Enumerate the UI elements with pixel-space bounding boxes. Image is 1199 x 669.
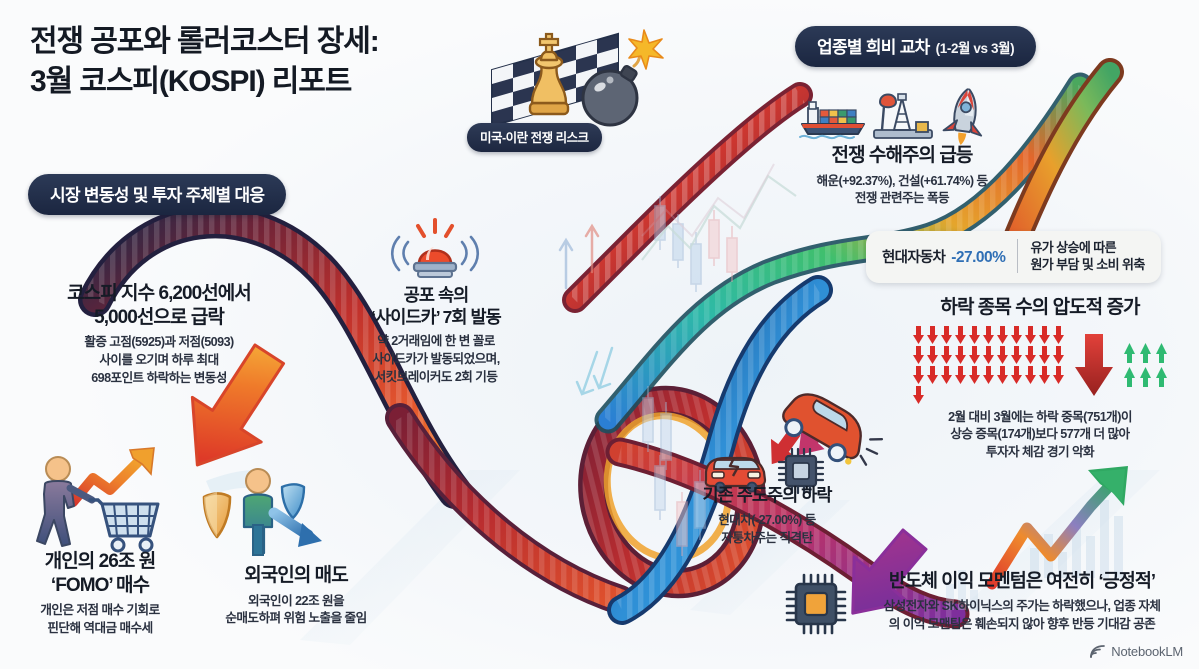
foreigner-body-2: 순매도하펴 위험 노출을 줄임 <box>186 610 406 628</box>
down-arrow-icon <box>912 326 925 344</box>
up-arrow-icon <box>1139 367 1152 387</box>
block-individual-investor: 개인의 26조 원 ‘FOMO’ 매수 개인은 저점 매수 기회로 핀단해 역대… <box>0 550 200 638</box>
up-arrow-icon <box>1155 367 1168 387</box>
down-arrow-icon <box>996 366 1009 384</box>
sidecar-heading-1: 공포 속의 <box>341 285 531 307</box>
person-selling-illustration <box>196 455 346 560</box>
shield-icon <box>204 492 230 537</box>
hyundai-name: 현대자동차 <box>882 250 945 266</box>
war-winners-body-2: 전쟁 관련주는 폭등 <box>762 190 1042 208</box>
breadth-heading-1: 하락 종목 수의 압도적 증가 <box>885 296 1195 320</box>
block-semiconductors: 반도체 이익 모멘텀은 여전히 ‘긍정적’ 삼성전자와 SK하이닉스의 주가는 … <box>846 570 1198 634</box>
infographic-canvas: 전쟁 공포와 롤러코스터 장세: 3월 코스피(KOSPI) 리포트 <box>0 0 1199 669</box>
breadth-arrow-visual <box>885 326 1195 404</box>
kospi-plunge-heading-2: 5,000선으로 급락 <box>14 306 304 330</box>
down-arrow-icon <box>926 346 939 364</box>
badge-left-label: 시장 변동성 및 투자 주체별 대응 <box>50 181 264 206</box>
war-winners-body-1: 해운(+92.37%), 건설(+61.74%) 등 <box>762 173 1042 191</box>
tag-war-risk: 미국-이란 전쟁 리스크 <box>467 123 602 152</box>
sidecar-body-2: 사이드카가 발동되었으며, <box>341 351 531 369</box>
down-arrow-grid <box>912 326 1065 404</box>
down-arrow-icon <box>912 346 925 364</box>
down-arrow-icon <box>968 366 981 384</box>
kospi-plunge-heading-1: 코스피 지수 6,200선에서 <box>14 282 304 306</box>
notebooklm-logo-icon <box>1089 644 1106 659</box>
leaders-fall-body-2: 자퉁차주는 직격탄 <box>672 530 862 548</box>
individual-body-2: 핀단해 역대금 매수세 <box>0 620 200 638</box>
badge-sector-divergence: 업종별 희비 교차 (1-2월 vs 3월) <box>795 26 1036 67</box>
badge-market-volatility: 시장 변동성 및 투자 주체별 대응 <box>28 174 286 215</box>
block-kospi-plunge: 코스피 지수 6,200선에서 5,000선으로 급락 활증 고점(5925)과… <box>14 282 304 388</box>
watermark-label: NotebookLM <box>1111 644 1183 659</box>
down-arrow-icon <box>940 366 953 384</box>
tag-war-risk-label: 미국-이란 전쟁 리스크 <box>480 131 589 145</box>
badge-right-label: 업종별 희비 교차 <box>817 33 930 58</box>
page-title: 전쟁 공포와 롤러코스터 장세: 3월 코스피(KOSPI) 리포트 <box>30 22 500 102</box>
person-buying-icon <box>37 457 92 546</box>
down-arrow-icon <box>1038 366 1051 384</box>
down-arrow-icon <box>968 346 981 364</box>
individual-heading-1: 개인의 26조 원 <box>0 550 200 574</box>
microchip-icon-large <box>784 572 848 638</box>
down-arrow-icon <box>1024 326 1037 344</box>
title-line-1: 전쟁 공포와 롤러코스터 장세: <box>30 22 500 62</box>
down-arrow-icon <box>1024 346 1037 364</box>
cargo-ship-icon <box>800 102 864 138</box>
down-arrow-icon <box>1010 366 1023 384</box>
oil-pump-icon <box>874 94 932 138</box>
foreigner-heading-1: 외국인의 매도 <box>186 564 406 588</box>
shopping-cart-icon <box>90 500 158 551</box>
up-arrow-icon <box>1123 367 1136 387</box>
block-sidecar: 공포 속의 ‘사이드카’ 7회 발동 약 2거래임에 한 변 꼴로 사이드카가 … <box>341 285 531 387</box>
sidecar-heading-2: ‘사이드카’ 7회 발동 <box>341 307 531 329</box>
individual-body-1: 개인은 저점 매수 기회로 <box>0 602 200 620</box>
down-arrow-icon <box>926 366 939 384</box>
down-arrow-icon <box>982 326 995 344</box>
down-arrow-icon <box>954 366 967 384</box>
block-war-winners: 전쟁 수해주의 급등 해운(+92.37%), 건설(+61.74%) 등 전쟁… <box>762 144 1042 208</box>
down-arrow-icon <box>996 346 1009 364</box>
breadth-body-3: 투자자 체감 경기 악화 <box>885 444 1195 462</box>
leaders-fall-body-1: 현대차(-27.00%) 등 <box>672 512 862 530</box>
down-arrow-icon <box>1010 326 1023 344</box>
down-arrow-icon <box>954 346 967 364</box>
block-leaders-fall: 기존 주도주의 하락 현대차(-27.00%) 등 자퉁차주는 직격탄 <box>672 485 862 547</box>
hyundai-reason-1: 유가 상승에 따른 <box>1030 239 1144 256</box>
down-arrow-icon <box>954 326 967 344</box>
notebooklm-watermark: NotebookLM <box>1089 644 1183 659</box>
badge-right-sublabel: (1-2월 vs 3월) <box>936 37 1015 57</box>
down-arrow-icon <box>912 366 925 384</box>
war-winners-heading-1: 전쟁 수해주의 급등 <box>762 144 1042 168</box>
chess-bomb-illustration <box>486 8 656 138</box>
up-arrow-icon <box>1123 343 1136 363</box>
hyundai-reason: 유가 상승에 따른 원가 부담 및 소비 위축 <box>1030 239 1144 274</box>
kospi-plunge-body-3: 698포인트 하락하는 변동성 <box>14 370 304 388</box>
siren-icon <box>388 216 482 282</box>
down-arrow-icon <box>1024 366 1037 384</box>
breadth-body-2: 상승 증목(174개)보다 577개 더 많아 <box>885 426 1195 444</box>
down-arrow-icon <box>1052 366 1065 384</box>
foreigner-body-1: 외국인이 22조 원을 <box>186 593 406 611</box>
kospi-plunge-body-2: 사이를 오기며 하루 최대 <box>14 352 304 370</box>
up-arrow-icon <box>1139 343 1152 363</box>
semis-heading-1: 반도체 이익 모멘텀은 여전히 ‘긍정적’ <box>846 570 1198 593</box>
kospi-plunge-body-1: 활증 고점(5925)과 저점(5093) <box>14 334 304 352</box>
badge-left-pill: 시장 변동성 및 투자 주체별 대응 <box>28 174 286 215</box>
breadth-body-1: 2월 대비 3월에는 하락 중목(751개)이 <box>885 409 1195 427</box>
person-buying-illustration <box>18 444 178 554</box>
down-arrow-icon <box>996 326 1009 344</box>
up-arrow-icon <box>1155 343 1168 363</box>
leaders-fall-icons <box>702 436 827 492</box>
card-hyundai-motor[interactable]: 현대자동차-27.00% 유가 상승에 따른 원가 부담 및 소비 위축 <box>866 231 1161 283</box>
down-arrow-icon <box>926 326 939 344</box>
sidecar-body-1: 약 2거래임에 한 변 꼴로 <box>341 333 531 351</box>
sidecar-body-3: 서킷브레이커도 2회 기등 <box>341 369 531 387</box>
hyundai-name-percent: 현대자동차-27.00% <box>882 246 1005 267</box>
down-arrow-icon <box>1052 346 1065 364</box>
leaders-fall-heading-1: 기존 주도주의 하락 <box>672 485 862 507</box>
down-arrow-icon <box>1010 346 1023 364</box>
down-arrow-icon <box>1038 346 1051 364</box>
down-arrow-icon <box>968 326 981 344</box>
title-line-2: 3월 코스피(KOSPI) 리포트 <box>30 62 500 102</box>
card-divider <box>1017 239 1018 273</box>
down-arrow-icon <box>940 346 953 364</box>
down-arrow-icon <box>912 386 925 404</box>
shield-icon-secondary <box>282 484 304 518</box>
war-winners-icons <box>798 82 998 144</box>
block-market-breadth: 하락 종목 수의 압도적 증가 <box>885 296 1195 462</box>
semis-body-2: 의 이익 모맨팀은 훼손되지 않아 향후 반등 기대감 공존 <box>846 616 1198 634</box>
down-arrow-icon <box>982 366 995 384</box>
big-down-arrow-icon <box>1074 334 1114 396</box>
up-arrow-grid <box>1123 343 1168 387</box>
hyundai-percent: -27.00% <box>951 249 1005 266</box>
down-arrow-icon <box>1038 326 1051 344</box>
down-arrow-icon <box>1052 326 1065 344</box>
down-arrow-icon <box>982 346 995 364</box>
semis-body-1: 삼성전자와 SK하이닉스의 주가는 하락했으나, 업종 자체 <box>846 598 1198 616</box>
block-foreign-investor: 외국인의 매도 외국인이 22조 원을 순매도하펴 위험 노출을 줄임 <box>186 564 406 628</box>
rocket-icon <box>942 87 987 148</box>
individual-heading-2: ‘FOMO’ 매수 <box>0 574 200 598</box>
hyundai-reason-2: 원가 부담 및 소비 위축 <box>1030 256 1144 273</box>
badge-right-pill: 업종별 희비 교차 (1-2월 vs 3월) <box>795 26 1036 67</box>
down-arrow-icon <box>940 326 953 344</box>
down-arrow-icon <box>274 513 322 547</box>
person-selling-icon <box>244 469 272 555</box>
